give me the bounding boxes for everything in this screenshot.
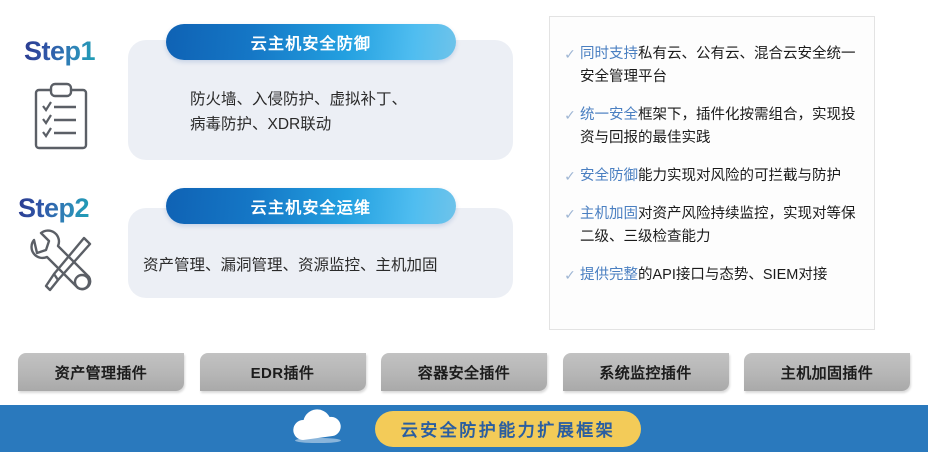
benefit-item-text: 提供完整的API接口与态势、SIEM对接 bbox=[580, 264, 860, 287]
benefit-item-text: 安全防御能力实现对风险的可拦截与防护 bbox=[580, 165, 860, 188]
benefit-item-highlight: 提供完整 bbox=[580, 267, 638, 283]
plugin-tag-label: 主机加固插件 bbox=[781, 362, 873, 383]
benefit-item-text: 统一安全框架下，插件化按需组合，实现投资与回报的最佳实践 bbox=[580, 104, 860, 150]
benefit-item-text: 主机加固对资产风险持续监控，实现对等保二级、三级检查能力 bbox=[580, 203, 860, 249]
step1-label: Step1 bbox=[24, 36, 95, 67]
step1-card-header-text: 云主机安全防御 bbox=[251, 30, 371, 54]
benefit-item-rest: 的API接口与态势、SIEM对接 bbox=[638, 267, 827, 283]
plugin-tag[interactable]: 容器安全插件 bbox=[381, 353, 547, 391]
benefits-panel: ✓同时支持私有云、公有云、混合云安全统一安全管理平台✓统一安全框架下，插件化按需… bbox=[549, 16, 875, 330]
check-icon: ✓ bbox=[560, 203, 580, 226]
plugin-tag[interactable]: EDR插件 bbox=[200, 353, 366, 391]
plugin-tag-label: 资产管理插件 bbox=[55, 362, 147, 383]
check-icon: ✓ bbox=[560, 165, 580, 188]
plugin-tag-row: 资产管理插件EDR插件容器安全插件系统监控插件主机加固插件 bbox=[0, 353, 928, 393]
benefit-item-highlight: 安全防御 bbox=[580, 168, 638, 184]
step1-card-header: 云主机安全防御 bbox=[166, 24, 456, 60]
check-icon: ✓ bbox=[560, 43, 580, 66]
plugin-tag[interactable]: 系统监控插件 bbox=[563, 353, 729, 391]
cloud-icon bbox=[287, 409, 349, 448]
plugin-tag-label: 系统监控插件 bbox=[599, 362, 691, 383]
benefit-item: ✓提供完整的API接口与态势、SIEM对接 bbox=[550, 264, 874, 287]
step2-card-header-text: 云主机安全运维 bbox=[251, 194, 371, 218]
benefit-item-highlight: 同时支持 bbox=[580, 46, 638, 62]
footer-banner: 云安全防护能力扩展框架 bbox=[0, 405, 928, 452]
benefit-item: ✓同时支持私有云、公有云、混合云安全统一安全管理平台 bbox=[550, 43, 874, 89]
plugin-tag-label: 容器安全插件 bbox=[418, 362, 510, 383]
slide-canvas: Step1 云主机安全防御 防火墙、入侵防护、虚拟补丁、 病毒防护、XDR联动 … bbox=[0, 0, 928, 452]
benefit-item: ✓统一安全框架下，插件化按需组合，实现投资与回报的最佳实践 bbox=[550, 104, 874, 150]
clipboard-checklist-icon bbox=[30, 82, 92, 157]
step2-card-header: 云主机安全运维 bbox=[166, 188, 456, 224]
benefit-item: ✓安全防御能力实现对风险的可拦截与防护 bbox=[550, 165, 874, 188]
benefit-item-highlight: 统一安全 bbox=[580, 107, 638, 123]
benefit-item-text: 同时支持私有云、公有云、混合云安全统一安全管理平台 bbox=[580, 43, 860, 89]
footer-pill-text: 云安全防护能力扩展框架 bbox=[401, 416, 616, 441]
step2-card-body: 资产管理、漏洞管理、资源监控、主机加固 bbox=[143, 253, 438, 278]
benefit-item: ✓主机加固对资产风险持续监控，实现对等保二级、三级检查能力 bbox=[550, 203, 874, 249]
benefit-item-highlight: 主机加固 bbox=[580, 206, 638, 222]
check-icon: ✓ bbox=[560, 264, 580, 287]
step1-card-body: 防火墙、入侵防护、虚拟补丁、 病毒防护、XDR联动 bbox=[190, 87, 407, 137]
plugin-tag[interactable]: 主机加固插件 bbox=[744, 353, 910, 391]
footer-pill: 云安全防护能力扩展框架 bbox=[375, 411, 642, 447]
plugin-tag-label: EDR插件 bbox=[251, 362, 315, 383]
benefit-item-rest: 能力实现对风险的可拦截与防护 bbox=[638, 168, 841, 184]
check-icon: ✓ bbox=[560, 104, 580, 127]
benefits-list: ✓同时支持私有云、公有云、混合云安全统一安全管理平台✓统一安全框架下，插件化按需… bbox=[550, 17, 874, 287]
wrench-screwdriver-icon bbox=[20, 228, 100, 311]
plugin-tag[interactable]: 资产管理插件 bbox=[18, 353, 184, 391]
step2-label: Step2 bbox=[18, 193, 89, 224]
